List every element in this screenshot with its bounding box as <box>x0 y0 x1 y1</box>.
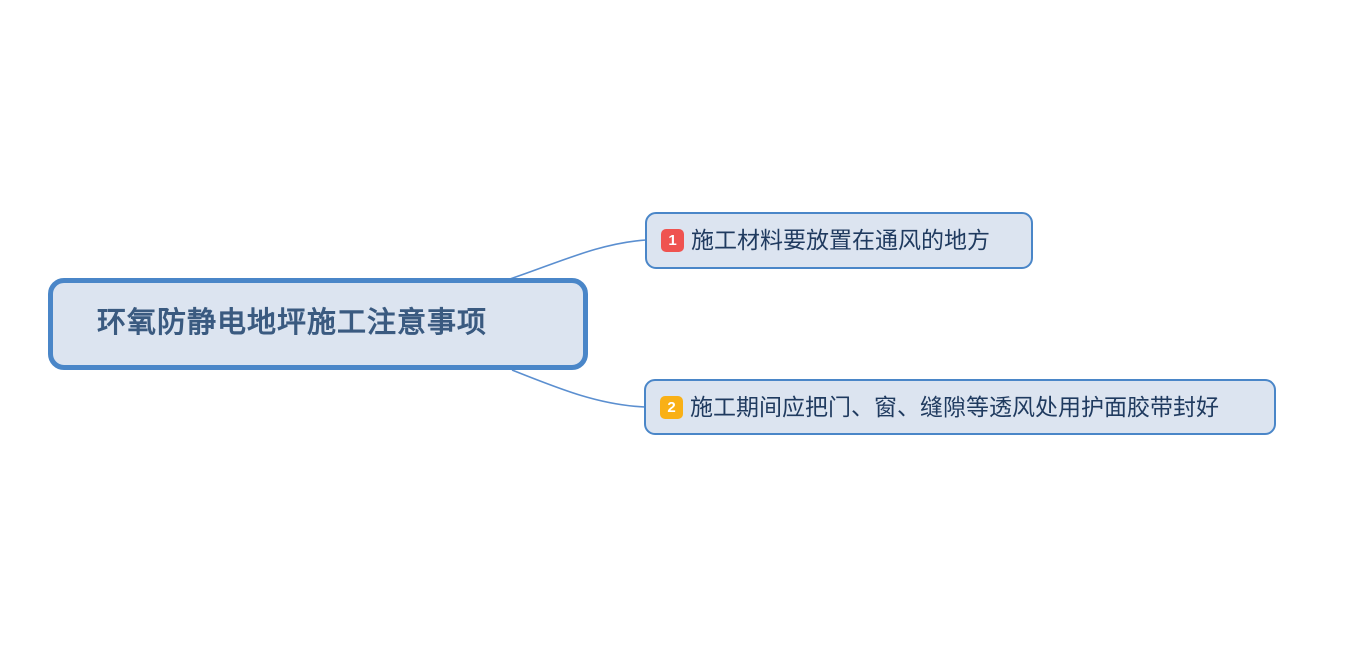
root-node[interactable]: 环氧防静电地坪施工注意事项 <box>48 278 588 370</box>
child-node-1[interactable]: 1 施工材料要放置在通风的地方 <box>645 212 1033 269</box>
connector-root-to-child-2 <box>512 370 645 407</box>
root-node-label: 环氧防静电地坪施工注意事项 <box>97 308 487 340</box>
child-node-1-badge: 1 <box>661 229 684 252</box>
connector-root-to-child-1 <box>510 240 646 279</box>
child-node-2-badge: 2 <box>660 396 683 419</box>
child-node-2-label: 施工期间应把门、窗、缝隙等透风处用护面胶带封好 <box>690 394 1219 420</box>
child-node-2[interactable]: 2 施工期间应把门、窗、缝隙等透风处用护面胶带封好 <box>644 379 1276 435</box>
child-node-1-label: 施工材料要放置在通风的地方 <box>691 227 990 253</box>
mindmap-canvas: 环氧防静电地坪施工注意事项 1 施工材料要放置在通风的地方 2 施工期间应把门、… <box>0 0 1357 656</box>
